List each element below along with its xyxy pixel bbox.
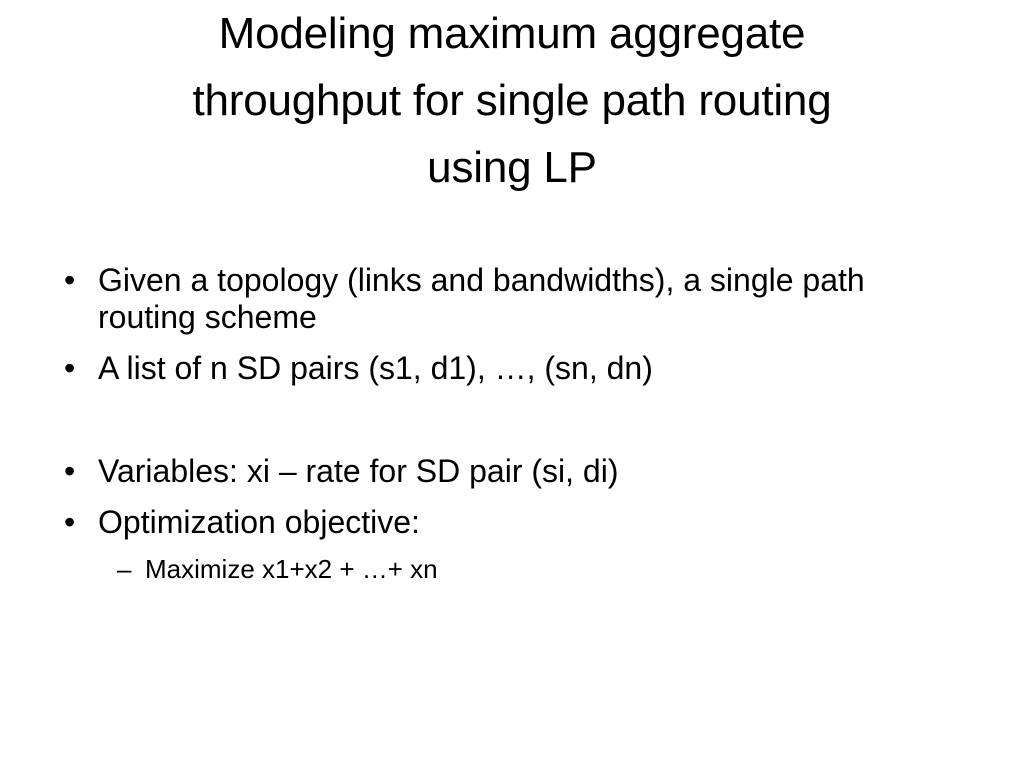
slide-title-line-3: using LP: [60, 134, 964, 201]
slide-body: • Given a topology (links and bandwidths…: [56, 262, 968, 585]
bullet-text-topology: Given a topology (links and bandwidths),…: [98, 262, 968, 336]
bullet-item-topology: • Given a topology (links and bandwidths…: [56, 262, 968, 336]
sub-bullet-item-maximize: – Maximize x1+x2 + …+ xn: [56, 553, 968, 585]
slide-title-line-2: throughput for single path routing: [60, 67, 964, 134]
bullet-marker-icon: •: [64, 453, 86, 490]
bullet-item-variables: • Variables: xi – rate for SD pair (si, …: [56, 453, 968, 490]
bullet-marker-icon: •: [64, 350, 86, 387]
sub-bullet-text-maximize: Maximize x1+x2 + …+ xn: [145, 553, 968, 585]
slide-title-line-1: Modeling maximum aggregate: [60, 0, 964, 67]
bullet-text-sd-pairs: A list of n SD pairs (s1, d1), …, (sn, d…: [98, 350, 968, 387]
bullet-marker-icon: •: [64, 504, 86, 541]
bullet-text-variables: Variables: xi – rate for SD pair (si, di…: [98, 453, 968, 490]
bullet-marker-icon: •: [64, 262, 86, 299]
bullet-item-objective: • Optimization objective:: [56, 504, 968, 541]
bullet-text-objective: Optimization objective:: [98, 504, 968, 541]
sub-bullet-dash-icon: –: [117, 553, 141, 585]
bullet-item-sd-pairs: • A list of n SD pairs (s1, d1), …, (sn,…: [56, 350, 968, 387]
slide-canvas: Modeling maximum aggregate throughput fo…: [0, 0, 1024, 768]
slide-title: Modeling maximum aggregate throughput fo…: [60, 0, 964, 201]
